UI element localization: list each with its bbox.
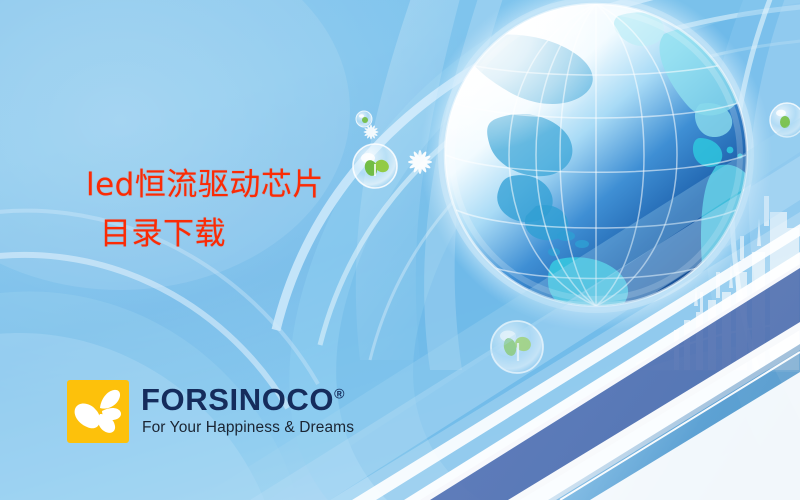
banner-artwork: led恒流驱动芯片 目录下载 FORSINOCO® For Your Happ bbox=[0, 0, 800, 500]
logo-tagline: For Your Happiness & Dreams bbox=[142, 419, 354, 436]
headline-line-2: 目录下载 bbox=[86, 215, 416, 255]
brand-logo[interactable]: FORSINOCO® For Your Happiness & Dreams bbox=[67, 380, 354, 443]
headline-line-1: led恒流驱动芯片 bbox=[86, 166, 416, 206]
pinwheel-flower-glyph bbox=[67, 380, 129, 443]
registered-trademark-icon: ® bbox=[334, 386, 344, 402]
wordmark-text: FORSINOCO bbox=[141, 382, 334, 417]
wordmark: FORSINOCO® bbox=[141, 384, 354, 415]
page-title: led恒流驱动芯片 目录下载 bbox=[86, 166, 416, 254]
pinwheel-flower-icon bbox=[67, 380, 129, 443]
logo-text-block: FORSINOCO® For Your Happiness & Dreams bbox=[141, 384, 354, 438]
